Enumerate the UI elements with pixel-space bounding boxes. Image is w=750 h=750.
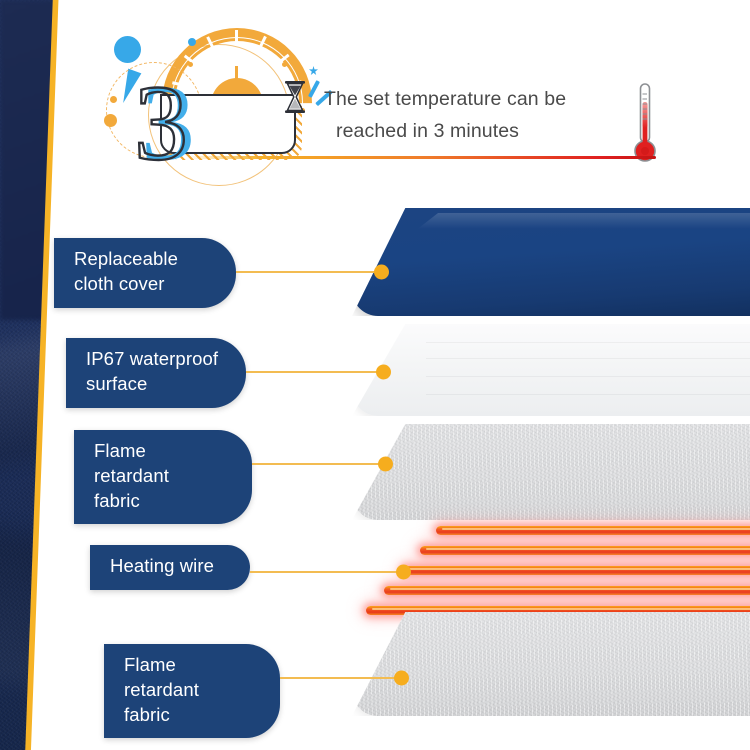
ip67-waterproof-layer <box>352 324 750 416</box>
callout-label[interactable]: Replaceable cloth cover <box>54 238 236 308</box>
callout-connector-line <box>246 371 380 373</box>
callout-connector-dot <box>394 671 409 686</box>
numeral-three-outline: 3 <box>134 70 188 178</box>
callout-connector-line <box>236 271 378 273</box>
callout-connector-dot <box>396 565 411 580</box>
callout-label[interactable]: IP67 waterproof surface <box>66 338 246 408</box>
replaceable-cloth-cover-layer <box>352 208 750 316</box>
callout-label[interactable]: Flame retardant fabric <box>74 430 252 524</box>
callout-label[interactable]: Flame retardant fabric <box>104 644 280 738</box>
heating-wire <box>384 586 750 595</box>
callout-connector-dot <box>376 365 391 380</box>
callout-connector-line <box>280 677 398 679</box>
flame-retardant-fabric-layer-top <box>352 424 750 520</box>
hourglass-icon <box>284 80 306 114</box>
heating-wire <box>436 526 750 535</box>
product-infographic-poster: 3 3 The set temperature can be reached i… <box>0 0 750 750</box>
flame-retardant-fabric-layer-bottom <box>352 612 750 716</box>
callout-label[interactable]: Heating wire <box>90 545 250 590</box>
callout-connector-dot <box>374 265 389 280</box>
heating-wire <box>402 566 750 575</box>
callout-connector-line <box>252 463 382 465</box>
heating-wire-layer <box>352 520 750 624</box>
callout-connector-line <box>250 571 400 573</box>
callout-connector-dot <box>378 457 393 472</box>
heating-wire <box>420 546 750 555</box>
